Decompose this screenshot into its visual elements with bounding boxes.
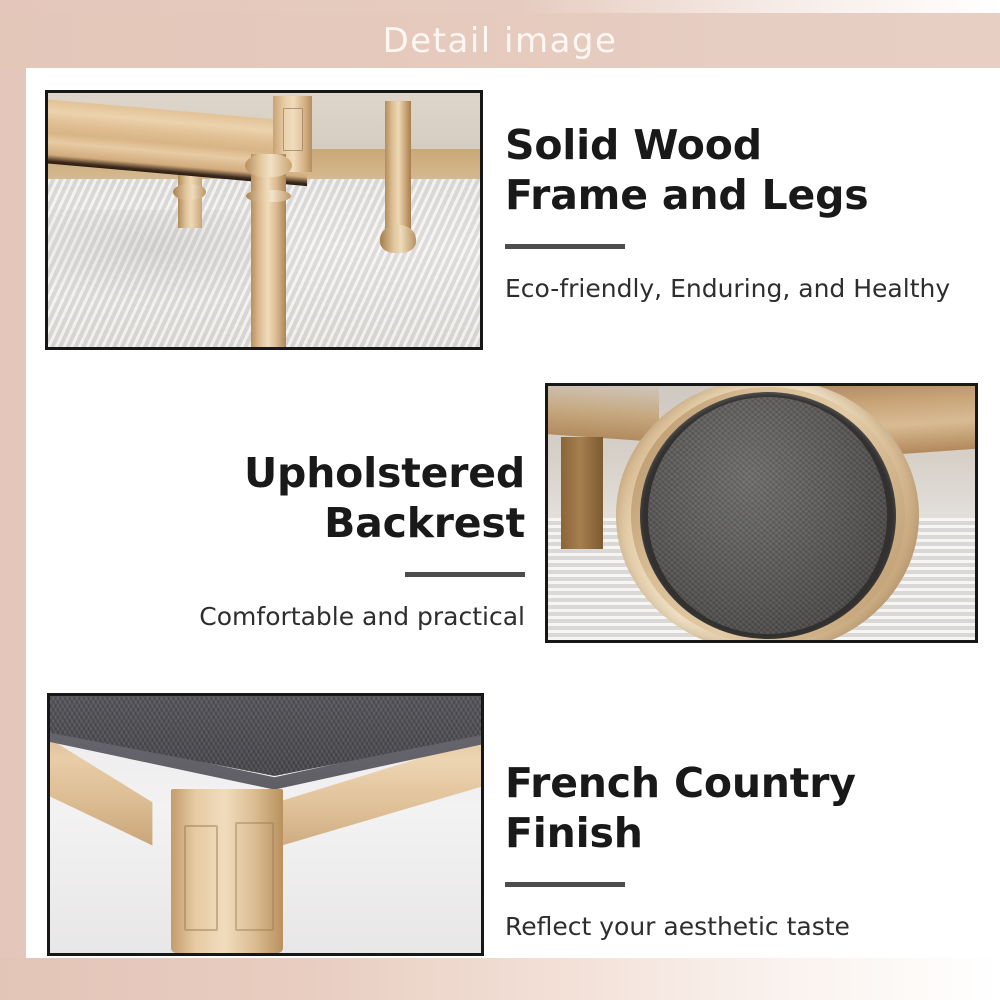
photo1-front-leg <box>251 154 286 347</box>
page-border-left <box>0 0 26 978</box>
feature-3-title: French Country Finish <box>505 758 975 859</box>
seat-corner-photo <box>47 693 484 956</box>
photo1-back-leg-knob <box>173 184 206 199</box>
feature-3-text: French Country Finish Reflect your aesth… <box>505 758 975 943</box>
wood-legs-photo <box>45 90 483 350</box>
feature-1-text: Solid WoodFrame and Legs Eco-friendly, E… <box>505 120 975 305</box>
detail-image-banner: Detail image <box>0 13 1000 68</box>
feature-3-subtitle: Reflect your aesthetic taste <box>505 911 975 944</box>
seat-corner-photo-content <box>50 696 481 953</box>
feature-2-divider <box>405 572 525 577</box>
photo1-front-leg-ring <box>246 190 291 203</box>
wood-legs-photo-content <box>48 93 480 347</box>
photo1-carved-panel <box>283 108 303 151</box>
photo2-table-leg <box>561 437 604 549</box>
feature-1-divider <box>505 244 625 249</box>
feature-1-title: Solid WoodFrame and Legs <box>505 120 975 221</box>
banner-title: Detail image <box>383 24 618 58</box>
upholstered-backrest-photo-content <box>548 386 975 640</box>
feature-1-title-line-1: Solid Wood <box>505 121 762 169</box>
page-border-top <box>0 0 1000 14</box>
feature-1-subtitle: Eco-friendly, Enduring, and Healthy <box>505 273 975 306</box>
photo1-front-leg-knob <box>245 154 293 177</box>
feature-2-subtitle: Comfortable and practical <box>60 601 525 634</box>
photo1-right-leg-foot <box>380 225 416 253</box>
photo3-carved-panel-left <box>184 825 218 932</box>
detail-image-page: Detail image Solid WoodFrame and Legs Ec… <box>0 0 1000 1000</box>
feature-2-text: Upholstered Backrest Comfortable and pra… <box>60 448 525 633</box>
feature-2-title: Upholstered Backrest <box>60 448 525 549</box>
photo3-carved-panel-right <box>235 822 273 931</box>
photo2-table-left <box>548 386 659 442</box>
feature-1-title-line-2: Frame and Legs <box>505 171 868 219</box>
photo1-right-leg <box>385 101 411 243</box>
photo2-fabric-cushion <box>648 397 887 633</box>
upholstered-backrest-photo <box>545 383 978 643</box>
feature-3-divider <box>505 882 625 887</box>
page-border-bottom <box>0 958 1000 1000</box>
